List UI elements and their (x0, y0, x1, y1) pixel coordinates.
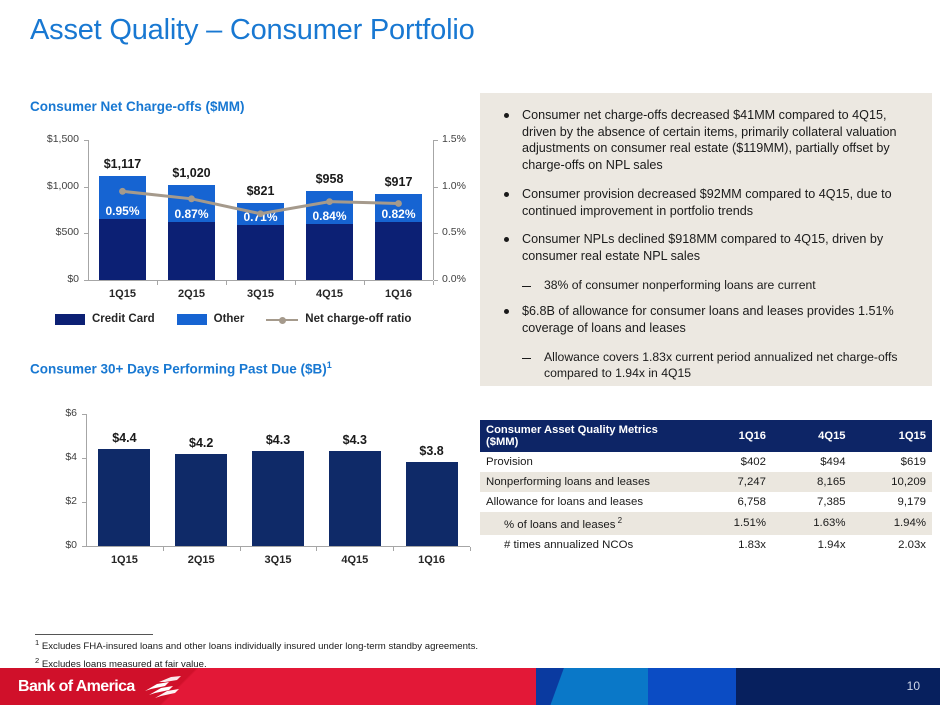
consumer-past-due-chart: $0$2$4$6 $4.41Q15$4.22Q15$4.33Q15$4.34Q1… (28, 388, 470, 578)
bar-total-label: $1,020 (154, 166, 229, 180)
table-row-label: Provision (480, 452, 692, 472)
chart1-x-tick-label: 1Q15 (88, 288, 157, 300)
chart2-x-tick (393, 547, 394, 551)
chart2-x-tick-label: 1Q16 (393, 554, 470, 566)
table-cell: 7,385 (772, 492, 852, 512)
bar-segment-credit-card (375, 222, 422, 280)
chart2-y-tick-label: $6 (28, 407, 77, 419)
flagscape-icon (143, 676, 183, 698)
bar-value-label: $4.4 (84, 431, 164, 445)
chart1-x-tick-label: 2Q15 (157, 288, 226, 300)
commentary-bullet: Consumer NPLs declined $918MM compared t… (496, 231, 918, 264)
bar-value-label: $4.2 (161, 436, 241, 450)
chart2-y-tick-label: $0 (28, 539, 77, 551)
page-number: 10 (907, 679, 920, 693)
commentary-bullet: Consumer net charge-offs decreased $41MM… (496, 107, 918, 174)
bar-total-label: $917 (361, 175, 436, 189)
chart2-heading-footnote-marker: 1 (327, 360, 332, 370)
net-chargeoff-ratio-label: 0.71% (229, 210, 292, 224)
chart2-y-tick (82, 546, 86, 547)
chart1-x-tick-label: 1Q16 (364, 288, 433, 300)
slide-root: Asset Quality – Consumer Portfolio Consu… (0, 0, 940, 705)
chart2-baseline (86, 546, 470, 547)
chart1-left-tick (84, 140, 88, 141)
bar-total-label: $958 (292, 172, 367, 186)
chart2-x-tick-label: 1Q15 (86, 554, 163, 566)
bank-of-america-logo: Bank of America (18, 676, 183, 698)
table-cell: 6,758 (692, 492, 772, 512)
chart1-x-tick (226, 281, 227, 285)
net-chargeoff-ratio-label: 0.84% (298, 209, 361, 223)
consumer-net-chargeoffs-chart: $0$500$1,000$1,5000.0%0.5%1.0%1.5% $1,11… (28, 132, 470, 342)
chart2-y-tick (82, 414, 86, 415)
table-column-header: 1Q16 (692, 420, 772, 452)
table-cell: 7,247 (692, 472, 772, 492)
bar-value-label: $3.8 (392, 444, 472, 458)
bar-total-label: $821 (223, 184, 298, 198)
chart2-x-tick-label: 3Q15 (240, 554, 317, 566)
commentary-panel: Consumer net charge-offs decreased $41MM… (480, 93, 932, 386)
table-row: Nonperforming loans and leases7,2478,165… (480, 472, 932, 492)
table-cell: 2.03x (852, 535, 932, 555)
chart1-x-tick-label: 4Q15 (295, 288, 364, 300)
chart2-heading-text: Consumer 30+ Days Performing Past Due ($… (30, 362, 327, 377)
table-column-header: 4Q15 (772, 420, 852, 452)
legend-swatch-icon (177, 314, 207, 325)
bar-segment-credit-card (237, 225, 284, 280)
table-row (168, 185, 215, 280)
slide-footer: Bank of America 10 (0, 668, 940, 705)
table-cell: 1.51% (692, 512, 772, 535)
legend-line-icon (266, 314, 298, 325)
commentary-bullet: $6.8B of allowance for consumer loans an… (496, 303, 918, 336)
table-row (329, 451, 381, 546)
chart2-x-tick-label: 4Q15 (316, 554, 393, 566)
table-row: Provision$402$494$619 (480, 452, 932, 472)
chart1-left-tick-label: $500 (28, 226, 79, 238)
table-row-label: Allowance for loans and leases (480, 492, 692, 512)
table-row: # times annualized NCOs1.83x1.94x2.03x (480, 535, 932, 555)
chart2-x-tick (163, 547, 164, 551)
chart1-right-tick (434, 280, 438, 281)
bar-total-label: $1,117 (85, 157, 160, 171)
chart1-left-tick-label: $0 (28, 273, 79, 285)
footer-blue-band-2 (648, 668, 736, 705)
page-title: Asset Quality – Consumer Portfolio (30, 14, 475, 47)
chart1-left-tick-label: $1,500 (28, 133, 79, 145)
chart2-heading: Consumer 30+ Days Performing Past Due ($… (30, 360, 332, 377)
table-row-label: Nonperforming loans and leases (480, 472, 692, 492)
table-row (98, 449, 150, 546)
table-row-label: # times annualized NCOs (480, 535, 692, 555)
table-body: Provision$402$494$619Nonperforming loans… (480, 452, 932, 555)
table-cell: $494 (772, 452, 852, 472)
chart1-baseline (88, 280, 433, 281)
chart1-right-axis (433, 140, 434, 280)
chart1-x-tick (364, 281, 365, 285)
chart1-right-tick (434, 140, 438, 141)
chart1-right-tick (434, 233, 438, 234)
table-cell: 1.94x (772, 535, 852, 555)
table-row: Allowance for loans and leases6,7587,385… (480, 492, 932, 512)
footnotes: 1 Excludes FHA-insured loans and other l… (35, 637, 635, 672)
chart1-right-tick-label: 0.0% (442, 273, 466, 285)
table-header-row: Consumer Asset Quality Metrics ($MM)1Q16… (480, 420, 932, 452)
chart2-y-tick (82, 458, 86, 459)
commentary-sub-bullet: Allowance covers 1.83x current period an… (518, 349, 918, 381)
legend-item[interactable]: Net charge-off ratio (266, 313, 411, 325)
commentary-bullet: Consumer provision decreased $92MM compa… (496, 186, 918, 219)
bar-segment-credit-card (306, 224, 353, 280)
chart2-y-tick-label: $4 (28, 451, 77, 463)
table-row: % of loans and leases 21.51%1.63%1.94% (480, 512, 932, 535)
table-cell: 8,165 (772, 472, 852, 492)
table-row (406, 462, 458, 546)
chart1-heading: Consumer Net Charge-offs ($MM) (30, 99, 245, 114)
chart2-x-tick (316, 547, 317, 551)
footnote-marker: 2 (35, 656, 39, 665)
chart2-y-tick (82, 502, 86, 503)
chart1-x-tick (433, 281, 434, 285)
brand-name: Bank of America (18, 678, 135, 696)
footnote-marker: 1 (35, 638, 39, 647)
legend-label: Other (214, 313, 245, 325)
chart1-right-tick-label: 1.5% (442, 133, 466, 145)
bar-value-label: $4.3 (315, 433, 395, 447)
legend-label: Credit Card (92, 313, 155, 325)
table-cell: 9,179 (852, 492, 932, 512)
chart2-y-tick-label: $2 (28, 495, 77, 507)
chart1-left-tick (84, 187, 88, 188)
table-column-header: Consumer Asset Quality Metrics ($MM) (480, 420, 692, 452)
legend-item[interactable]: Other (177, 313, 245, 325)
table-cell: 1.83x (692, 535, 772, 555)
chart1-legend: Credit CardOtherNet charge-off ratio (55, 313, 411, 325)
legend-swatch-icon (55, 314, 85, 325)
bar-segment-credit-card (168, 222, 215, 280)
table-row (175, 454, 227, 546)
chart1-left-tick (84, 280, 88, 281)
table-row (252, 451, 304, 546)
chart1-left-tick-label: $1,000 (28, 180, 79, 192)
asset-quality-metrics-table: Consumer Asset Quality Metrics ($MM)1Q16… (480, 420, 932, 555)
table-cell: 1.94% (852, 512, 932, 535)
table-footnote-marker: 2 (615, 516, 622, 525)
chart1-right-tick-label: 1.0% (442, 180, 466, 192)
chart2-x-tick (240, 547, 241, 551)
table-cell: $619 (852, 452, 932, 472)
table-cell: $402 (692, 452, 772, 472)
net-chargeoff-ratio-label: 0.87% (160, 207, 223, 221)
footer-blue-band-1 (536, 668, 648, 705)
chart1-x-tick (157, 281, 158, 285)
net-chargeoff-ratio-label: 0.95% (91, 204, 154, 218)
footnote-divider (35, 634, 153, 635)
table-row (99, 176, 146, 280)
table-cell: 1.63% (772, 512, 852, 535)
net-chargeoff-ratio-label: 0.82% (367, 207, 430, 221)
chart1-right-tick-label: 0.5% (442, 226, 466, 238)
legend-label: Net charge-off ratio (305, 313, 411, 325)
chart1-left-tick (84, 233, 88, 234)
table-cell: 10,209 (852, 472, 932, 492)
chart2-x-tick-label: 2Q15 (163, 554, 240, 566)
bar-value-label: $4.3 (238, 433, 318, 447)
commentary-bullet-list: Consumer net charge-offs decreased $41MM… (480, 93, 932, 381)
bar-segment-credit-card (99, 219, 146, 280)
commentary-sub-bullet: 38% of consumer nonperforming loans are … (518, 277, 918, 293)
footnote: 1 Excludes FHA-insured loans and other l… (35, 637, 635, 655)
chart1-x-tick-label: 3Q15 (226, 288, 295, 300)
table-row (306, 191, 353, 280)
chart1-x-tick (295, 281, 296, 285)
table-column-header: 1Q15 (852, 420, 932, 452)
chart2-x-tick (470, 547, 471, 551)
legend-item[interactable]: Credit Card (55, 313, 155, 325)
table-row-label: % of loans and leases 2 (480, 512, 692, 535)
